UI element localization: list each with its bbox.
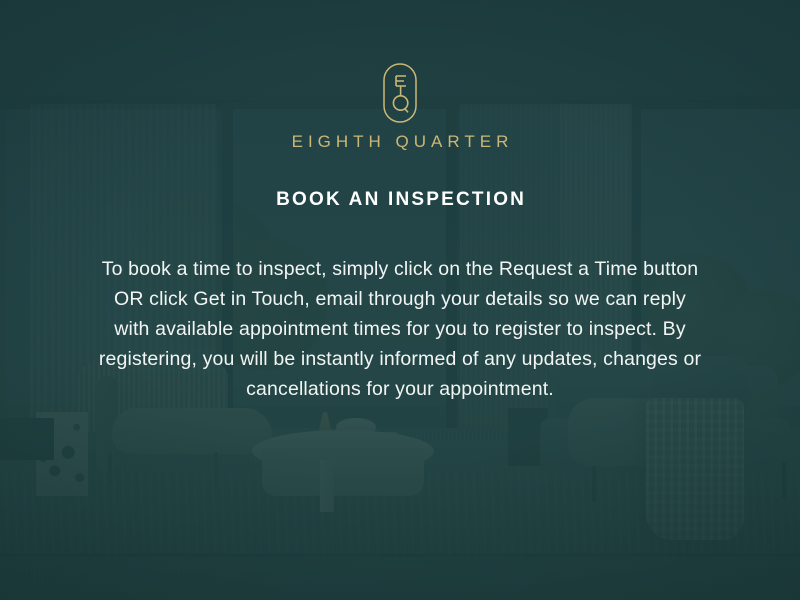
brand-wordmark: EIGHTH QUARTER (287, 133, 514, 150)
eq-monogram-key-icon (378, 62, 422, 124)
inspection-hero-screen: EIGHTH QUARTER BOOK AN INSPECTION To boo… (0, 0, 800, 600)
intro-paragraph: To book a time to inspect, simply click … (95, 254, 705, 404)
hero-content: EIGHTH QUARTER BOOK AN INSPECTION To boo… (0, 0, 800, 600)
page-title: BOOK AN INSPECTION (274, 190, 526, 209)
